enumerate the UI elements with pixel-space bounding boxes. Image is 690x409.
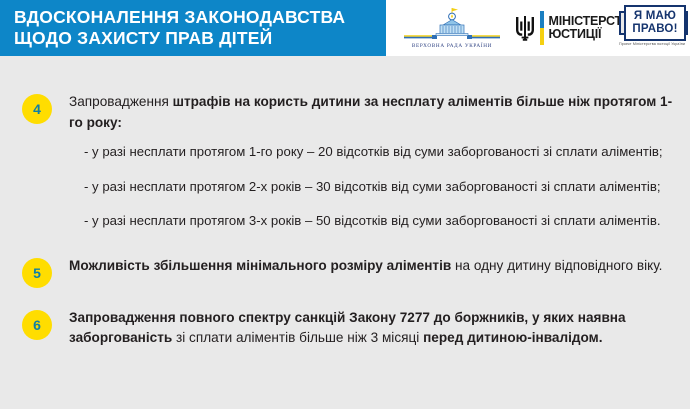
item-text: Запровадження повного спектру санкцій За… <box>69 308 678 349</box>
item-number-badge: 4 <box>22 94 52 124</box>
pravo-line-1: Я МАЮ <box>634 10 676 23</box>
page-title-line-1: ВДОСКОНАЛЕННЯ ЗАКОНОДАВСТВА <box>14 7 376 28</box>
pravo-frame: Я МАЮ ПРАВО! <box>624 5 686 41</box>
sublist-item: - у разі несплати протягом 2-х років – 3… <box>69 177 678 198</box>
header-title-bar: ВДОСКОНАЛЕННЯ ЗАКОНОДАВСТВА ЩОДО ЗАХИСТУ… <box>0 0 386 56</box>
content-list: 4 Запровадження штрафів на користь дитин… <box>0 92 690 358</box>
list-item: 5 Можливість збільшення мінімального роз… <box>0 256 690 288</box>
list-item: 4 Запровадження штрафів на користь дитин… <box>0 92 690 232</box>
list-item: 6 Запровадження повного спектру санкцій … <box>0 308 690 358</box>
ukrainian-trident-icon <box>512 13 538 43</box>
item-text: Можливість збільшення мінімального розмі… <box>69 256 678 277</box>
item-text: Запровадження штрафів на користь дитини … <box>69 92 678 133</box>
pravo-subtitle: Проект Міністерства юстиції України <box>618 42 686 46</box>
pravo-line-2: ПРАВО! <box>632 23 677 36</box>
logo-group: ВЕРХОВНА РАДА УКРАЇНИ <box>386 0 690 56</box>
sublist-item: - у разі несплати протягом 1-го року – 2… <box>69 142 678 163</box>
item-number-badge: 5 <box>22 258 52 288</box>
page-header: ВДОСКОНАЛЕННЯ ЗАКОНОДАВСТВА ЩОДО ЗАХИСТУ… <box>0 0 690 56</box>
verkhovna-rada-caption: ВЕРХОВНА РАДА УКРАЇНИ <box>398 43 506 49</box>
page-title-line-2: ЩОДО ЗАХИСТУ ПРАВ ДІТЕЙ <box>14 28 376 49</box>
sublist-item: - у разі несплати протягом 3-х років – 5… <box>69 211 678 232</box>
ukraine-flag-bar-icon <box>540 11 544 45</box>
verkhovna-rada-logo: ВЕРХОВНА РАДА УКРАЇНИ <box>398 6 506 50</box>
ya-mayu-pravo-logo: Я МАЮ ПРАВО! Проект Міністерства юстиції… <box>618 5 686 50</box>
parliament-building-icon <box>398 6 506 44</box>
item-number-badge: 6 <box>22 310 52 340</box>
item-sublist: - у разі несплати протягом 1-го року – 2… <box>69 142 678 232</box>
